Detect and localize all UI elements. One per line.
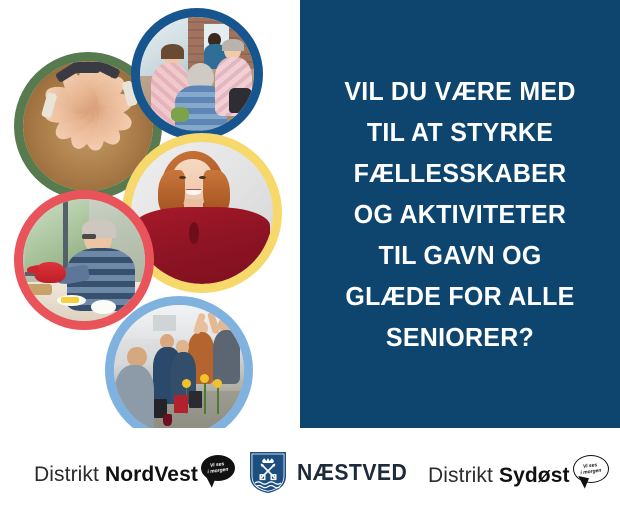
photo-tea-image bbox=[23, 199, 145, 321]
speech-bubble-icon: Vi ses i morgen bbox=[573, 455, 609, 483]
headline-panel: VIL DU VÆRE MED TIL AT STYRKE FÆLLESSKAB… bbox=[300, 0, 620, 428]
headline-line-1: VIL DU VÆRE MED bbox=[316, 71, 604, 112]
headline-line-2: TIL AT STYRKE bbox=[316, 112, 604, 153]
scene-group-event bbox=[114, 305, 244, 435]
headline-line-7: SENIORER? bbox=[316, 317, 604, 358]
photo-table-talk-circle bbox=[131, 8, 263, 140]
headline-line-4: OG AKTIVITETER bbox=[316, 194, 604, 235]
headline-line-5: TIL GAVN OG bbox=[316, 235, 604, 276]
sydost-prefix: Distrikt bbox=[428, 464, 493, 488]
nordvest-prefix: Distrikt bbox=[34, 463, 99, 487]
nordvest-name: NordVest bbox=[105, 463, 198, 487]
headline-line-3: FÆLLESSKABER bbox=[316, 153, 604, 194]
scene-tea bbox=[23, 199, 145, 321]
naestved-crest-icon bbox=[248, 450, 288, 494]
scene-table-talk bbox=[140, 17, 254, 131]
headline-text: VIL DU VÆRE MED TIL AT STYRKE FÆLLESSKAB… bbox=[316, 71, 604, 358]
sydost-bubble-text: Vi ses i morgen bbox=[579, 462, 601, 476]
photo-group-event-image bbox=[114, 305, 244, 435]
logo-distrikt-nordvest: Distrikt NordVest Vi ses i morgen bbox=[34, 455, 235, 495]
headline-line-6: GLÆDE FOR ALLE bbox=[316, 276, 604, 317]
photo-collage bbox=[0, 0, 300, 428]
logo-naestved-kommune: NÆSTVED bbox=[248, 450, 417, 494]
photo-table-talk-image bbox=[140, 17, 254, 131]
sydost-name: Sydøst bbox=[499, 464, 570, 488]
poster-canvas: VIL DU VÆRE MED TIL AT STYRKE FÆLLESSKAB… bbox=[0, 0, 620, 520]
photo-group-event-circle bbox=[105, 296, 253, 444]
nordvest-bubble-text: Vi ses i morgen bbox=[207, 461, 229, 475]
naestved-wordmark: NÆSTVED bbox=[297, 459, 407, 486]
speech-bubble-icon: Vi ses i morgen bbox=[201, 455, 235, 481]
logo-distrikt-sydost: Distrikt Sydøst Vi ses i morgen bbox=[428, 455, 609, 497]
